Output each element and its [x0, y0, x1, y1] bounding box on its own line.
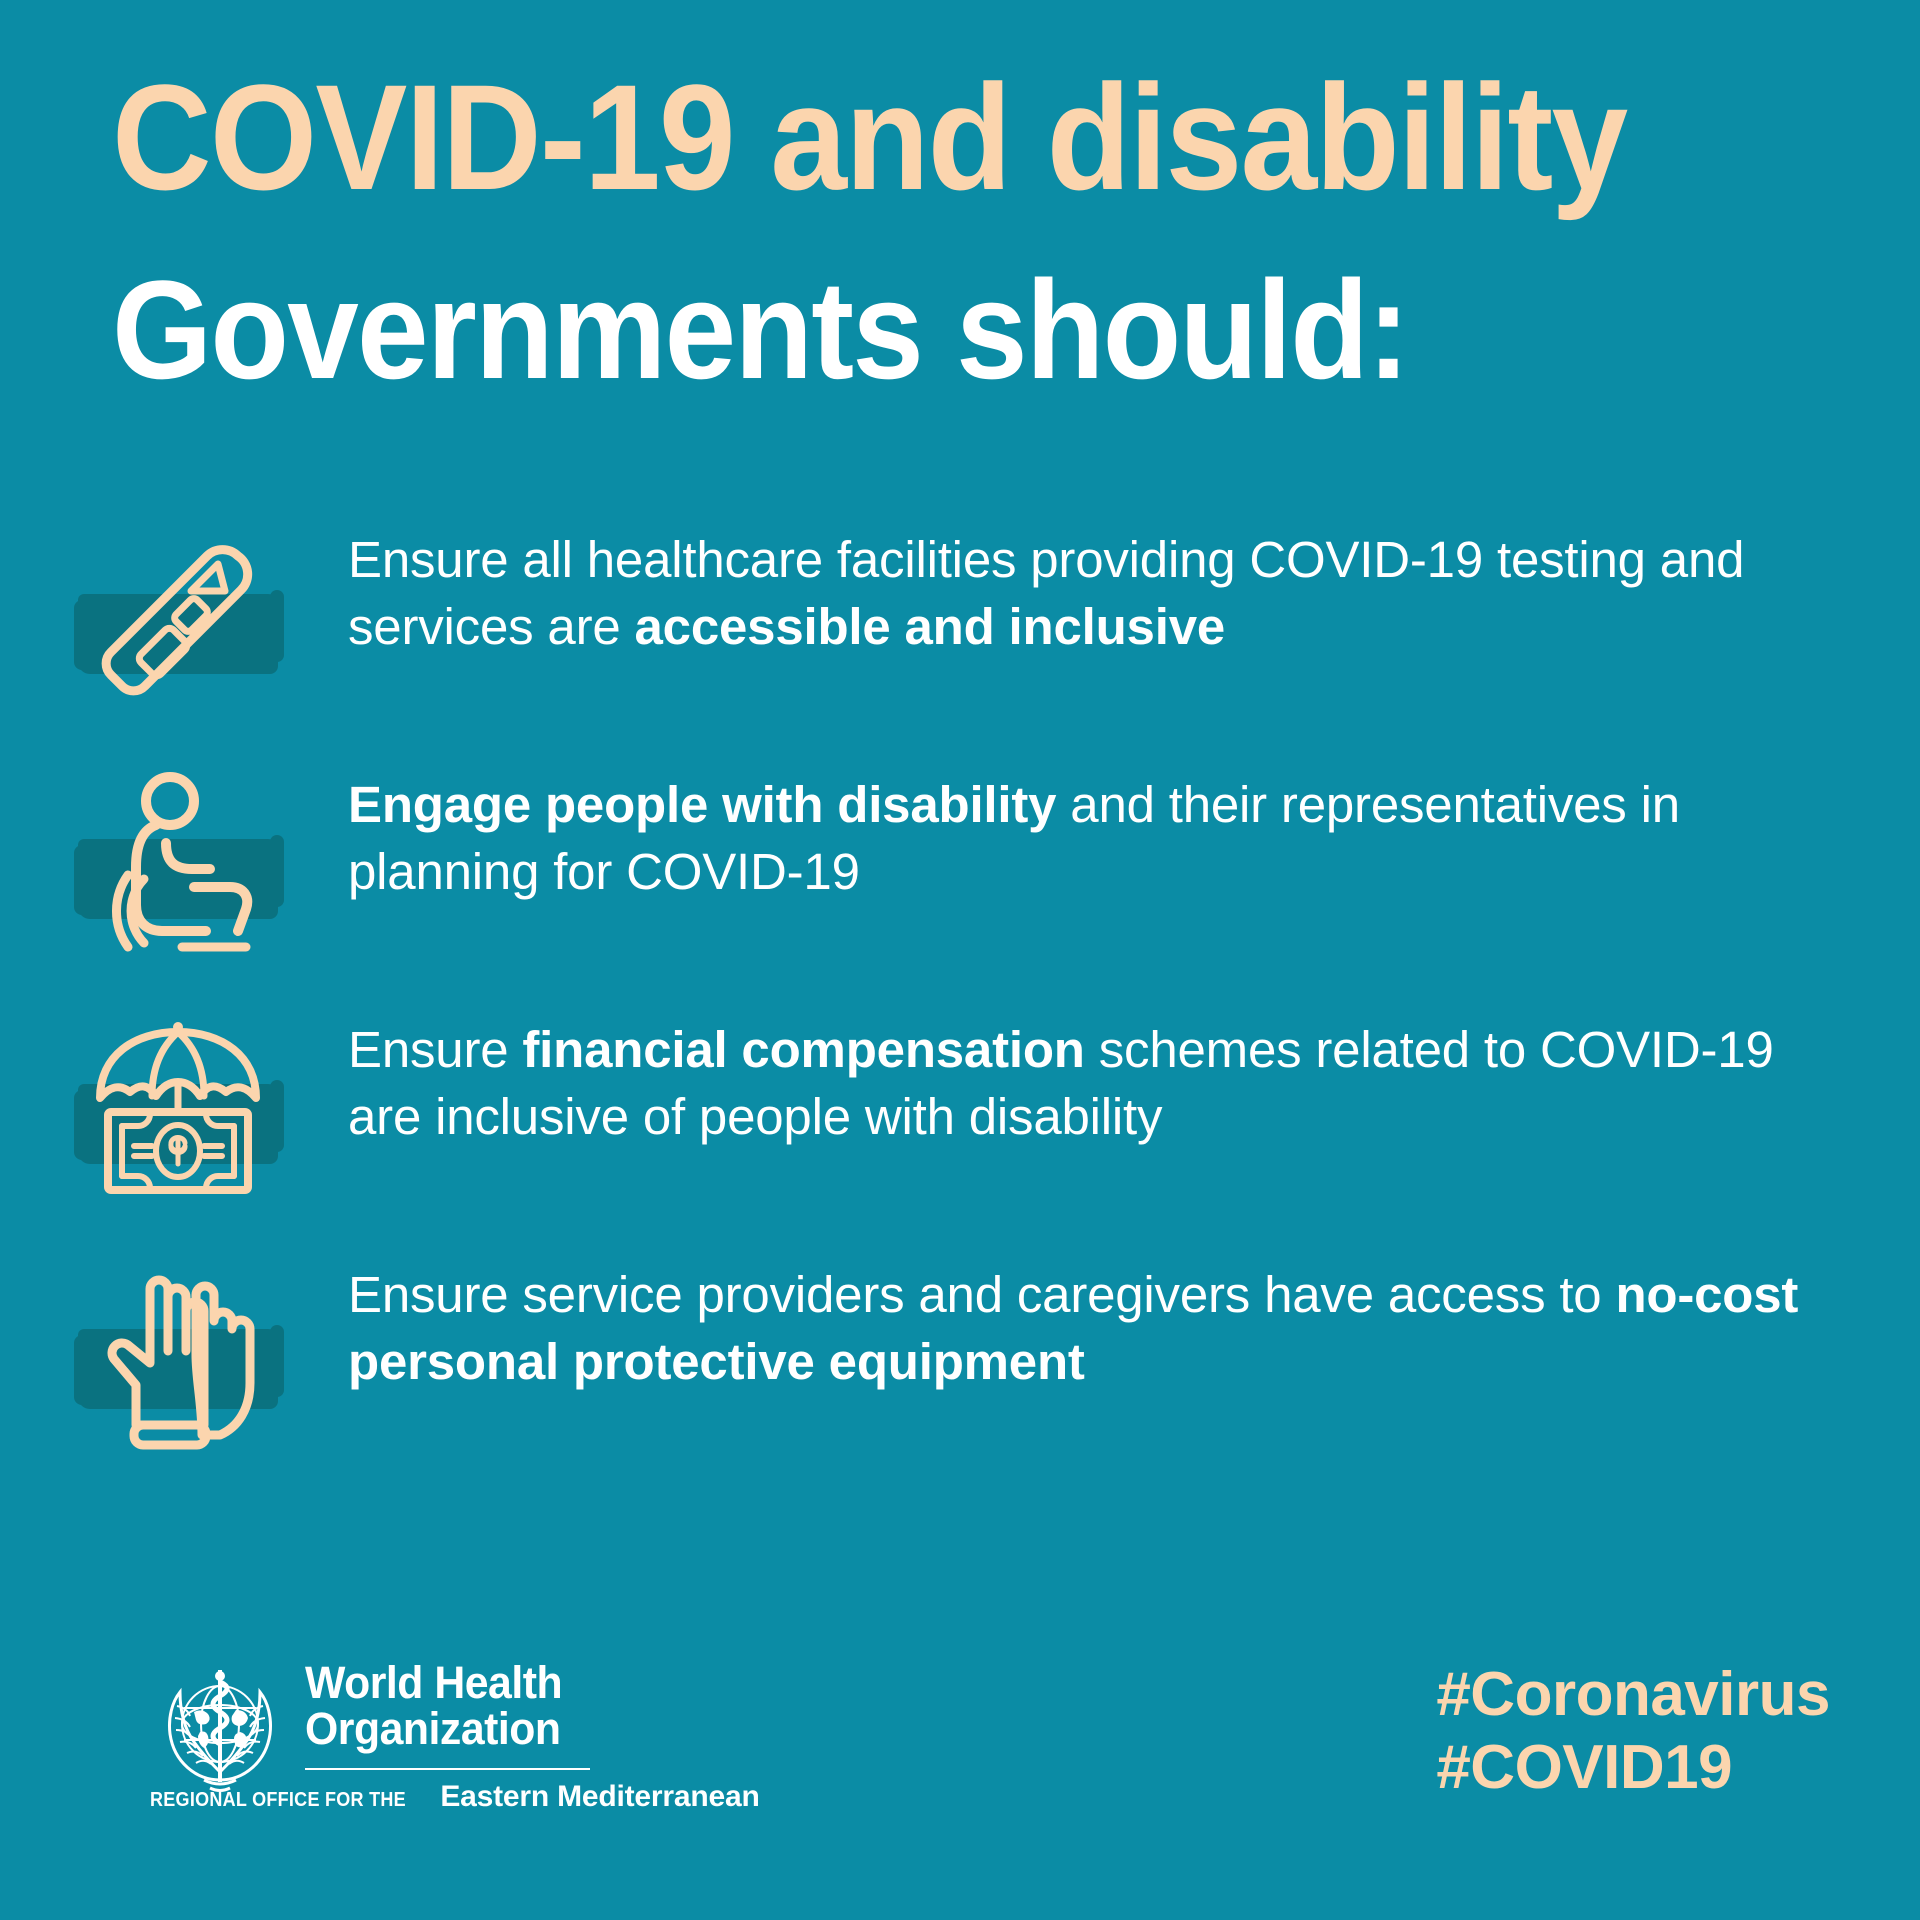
recommendations-list: Ensure all healthcare facilities providi… — [0, 520, 1920, 1500]
icon-cell — [78, 520, 278, 720]
umbrella-money-icon — [78, 1010, 278, 1210]
who-regional-prefix: REGIONAL OFFICE FOR THE — [150, 1789, 406, 1812]
list-item: Engage people with disability and their … — [0, 765, 1920, 1010]
who-line-2: Organization — [305, 1706, 581, 1752]
who-divider — [305, 1768, 590, 1770]
thermometer-icon — [78, 520, 278, 720]
list-item-text: Engage people with disability and their … — [348, 771, 1850, 906]
who-regional-office: REGIONAL OFFICE FOR THEEastern Mediterra… — [150, 1780, 610, 1814]
list-item: Ensure service providers and caregivers … — [0, 1255, 1920, 1500]
who-logo: World Health Organization REGIONAL OFFIC… — [150, 1660, 590, 1835]
list-item: Ensure all healthcare facilities providi… — [0, 520, 1920, 765]
gloves-icon — [78, 1255, 278, 1455]
poster-canvas: COVID-19 and disability Governments shou… — [0, 0, 1920, 1920]
list-item-text: Ensure financial compensation schemes re… — [348, 1016, 1850, 1151]
list-item: Ensure financial compensation schemes re… — [0, 1010, 1920, 1255]
hashtags: #Coronavirus #COVID19 — [1436, 1658, 1830, 1804]
title-line-2: Governments should: — [112, 260, 1694, 400]
wheelchair-icon — [78, 765, 278, 965]
who-line-1: World Health — [305, 1660, 581, 1706]
hashtag-coronavirus: #Coronavirus — [1436, 1658, 1830, 1731]
icon-cell — [78, 1010, 278, 1210]
icon-cell — [78, 765, 278, 965]
title-line-1: COVID-19 and disability — [112, 62, 1694, 212]
hashtag-covid19: #COVID19 — [1436, 1731, 1830, 1804]
footer: World Health Organization REGIONAL OFFIC… — [0, 1620, 1920, 1920]
list-item-text: Ensure service providers and caregivers … — [348, 1261, 1850, 1396]
who-region-name: Eastern Mediterranean — [440, 1780, 759, 1814]
page-title: COVID-19 and disability Governments shou… — [112, 62, 1832, 400]
icon-cell — [78, 1255, 278, 1455]
list-item-text: Ensure all healthcare facilities providi… — [348, 526, 1850, 661]
who-wordmark: World Health Organization — [305, 1660, 595, 1752]
